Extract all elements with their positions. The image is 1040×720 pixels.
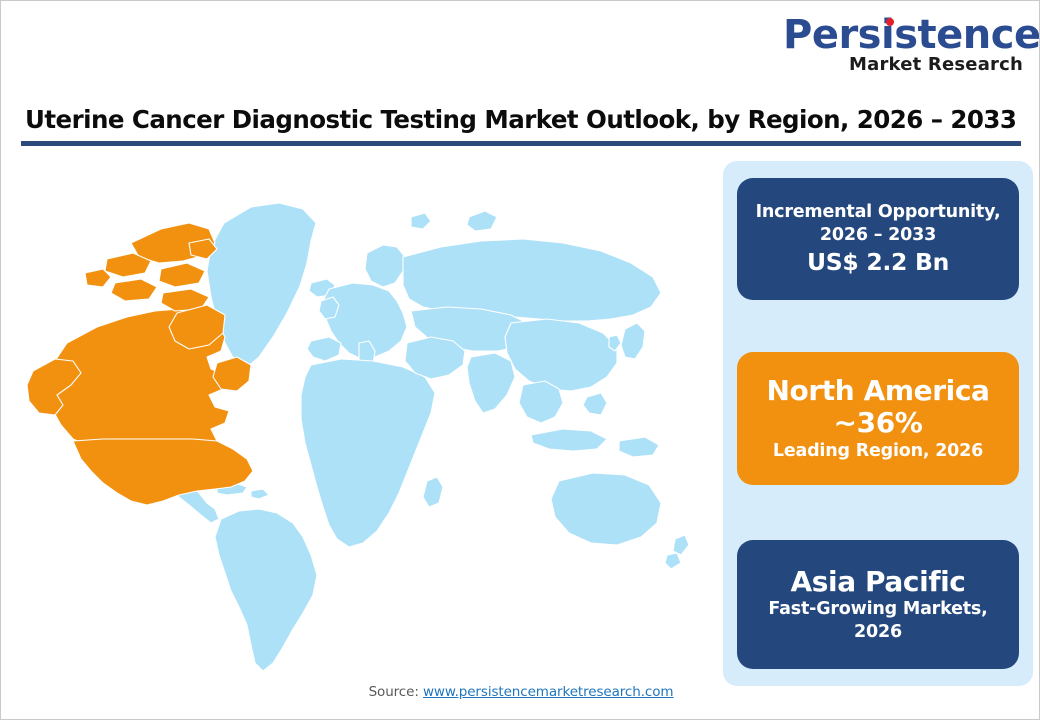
incremental-opportunity-label-line1: Incremental Opportunity, <box>756 201 1001 223</box>
incremental-opportunity-label-line2: 2026 – 2033 <box>820 224 936 246</box>
region-australia <box>551 473 661 545</box>
fast-growing-region-name: Asia Pacific <box>790 566 965 598</box>
title-divider <box>21 141 1021 146</box>
stats-panel: Incremental Opportunity, 2026 – 2033 US$… <box>723 161 1033 686</box>
card-incremental-opportunity[interactable]: Incremental Opportunity, 2026 – 2033 US$… <box>737 178 1019 300</box>
world-map-svg <box>11 151 721 671</box>
leading-region-caption: Leading Region, 2026 <box>773 440 983 462</box>
region-philippines <box>583 393 607 415</box>
region-cuba-east <box>251 489 269 499</box>
incremental-opportunity-value: US$ 2.2 Bn <box>807 248 949 277</box>
region-new-zealand-south <box>665 553 681 569</box>
region-arctic-island-3 <box>159 263 205 287</box>
brand-logo: Persistence Market Research <box>783 15 1023 74</box>
page-title: Uterine Cancer Diagnostic Testing Market… <box>25 105 1017 134</box>
infographic-page: Persistence Market Research Uterine Canc… <box>0 0 1040 720</box>
region-africa <box>301 359 435 547</box>
logo-dot-icon <box>886 18 894 26</box>
leading-region-name: North America <box>766 375 989 407</box>
region-novaya-zemlya <box>467 211 497 231</box>
world-map <box>11 151 721 671</box>
region-japan <box>621 323 645 359</box>
region-india <box>467 353 515 413</box>
region-new-zealand <box>673 535 689 555</box>
region-scandinavia <box>365 245 405 287</box>
leading-region-share: ~36% <box>834 407 923 439</box>
region-labrador <box>213 357 251 391</box>
source-label: Source: <box>369 684 423 700</box>
region-east-asia <box>505 319 617 391</box>
region-korea <box>609 335 621 351</box>
region-papua-new-guinea <box>619 437 659 457</box>
region-madagascar <box>423 477 443 507</box>
region-iberia <box>307 337 341 361</box>
brand-name-text: Persistence <box>783 15 1040 55</box>
source-line: Source: www.persistencemarketresearch.co… <box>1 684 1040 700</box>
fast-growing-caption-line2: 2026 <box>854 621 902 643</box>
fast-growing-caption-line1: Fast-Growing Markets, <box>768 598 987 620</box>
region-svalbard <box>411 213 431 229</box>
region-south-america <box>215 509 317 671</box>
card-fast-growing-market[interactable]: Asia Pacific Fast-Growing Markets, 2026 <box>737 540 1019 669</box>
region-british-isles <box>319 297 339 319</box>
card-leading-region[interactable]: North America ~36% Leading Region, 2026 <box>737 352 1019 485</box>
region-indonesia <box>531 429 607 451</box>
brand-tagline: Market Research <box>783 56 1023 74</box>
region-southeast-asia <box>519 381 563 423</box>
region-arctic-island-4 <box>111 279 157 301</box>
brand-name-label: Persistence <box>783 12 1040 58</box>
source-link[interactable]: www.persistencemarketresearch.com <box>423 684 673 700</box>
